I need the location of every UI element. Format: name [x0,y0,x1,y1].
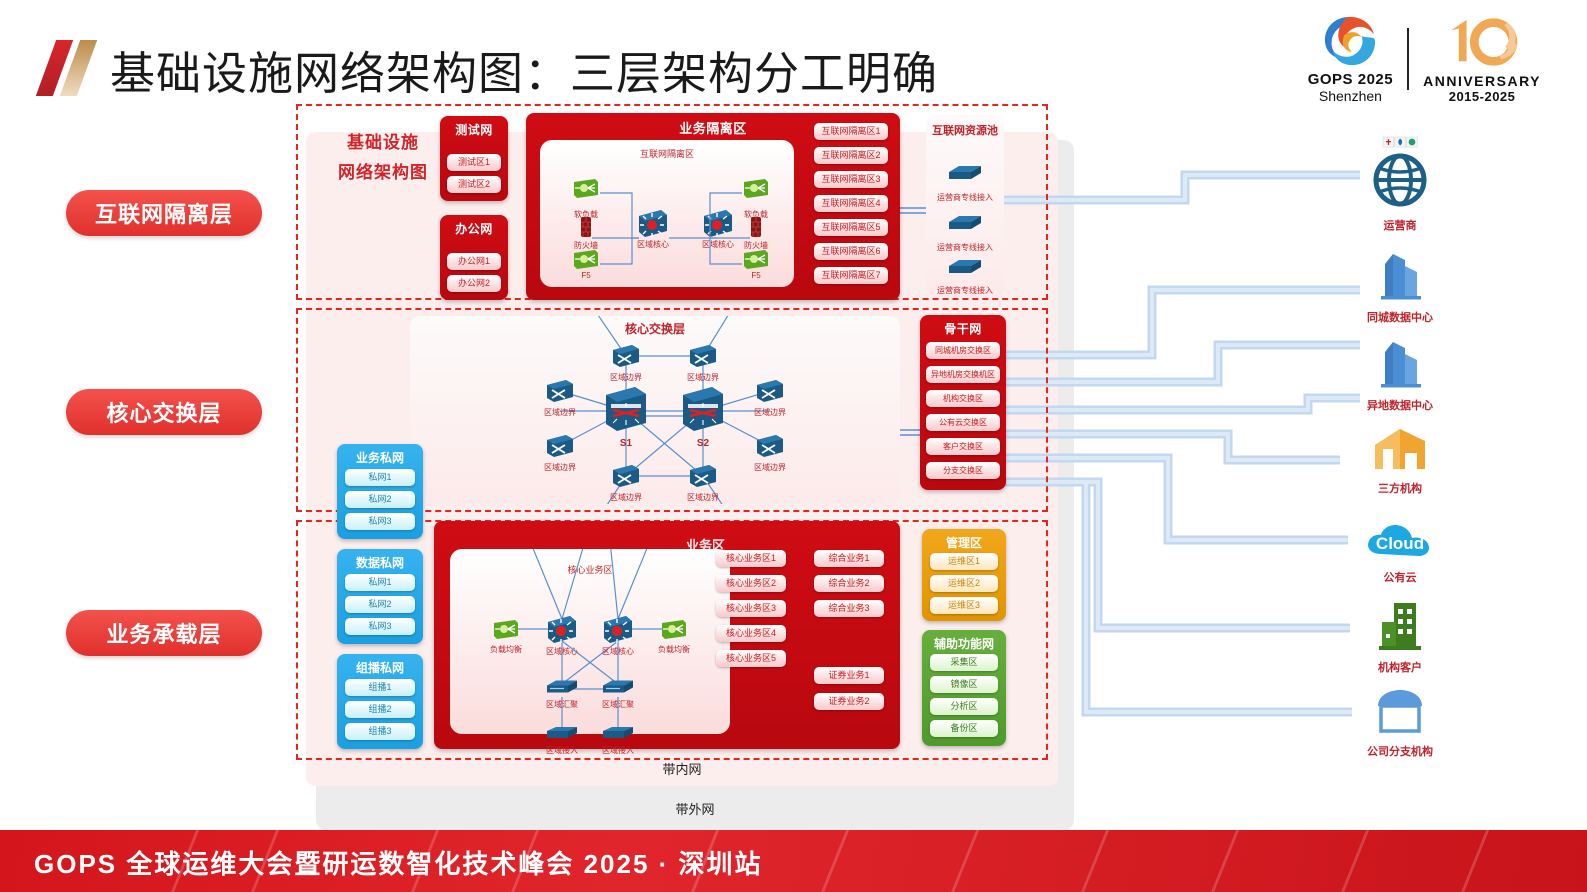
chip-backbone-5[interactable]: 客户交换区 [926,438,1000,455]
device-label: 区域边界 [687,492,719,503]
chip-ops-zone-3[interactable]: 运维区3 [930,597,998,614]
entity-company-branch[interactable]: 公司分支机构 [1345,688,1455,759]
device-label: 区域边界 [544,407,576,418]
chip-private-3[interactable]: 私网3 [345,618,415,635]
chip-general-business-3[interactable]: 综合业务3 [814,600,884,617]
device-label: 区域边界 [610,372,642,383]
diagram-title: 基础设施 网络架构图 [318,128,448,188]
chip-securities-business-2[interactable]: 证券业务2 [814,693,884,710]
zone-aggregation-switch-icon [601,679,635,696]
gops-logo: GOPS 2025 Shenzhen ANNIVERSARY 2015-2025 [1308,14,1541,104]
chip-backbone-4[interactable]: 公有云交换区 [926,414,1000,431]
isolation-inner-card: 互联网隔离区 软负载 防火墙 F5 区域核心 [540,140,794,287]
zone-boundary-switch-icon [611,343,641,369]
chip-private-3[interactable]: 私网3 [345,513,415,530]
panel-multicast-private-net[interactable]: 组播私网 组播1 组播2 组播3 [337,654,423,749]
device-label: 区域边界 [610,492,642,503]
layer-pill-business-bearing[interactable]: 业务承载层 [66,610,262,656]
chip-core-business-1[interactable]: 核心业务区1 [716,550,786,567]
footer-text: GOPS 全球运维大会暨研运数智化技术峰会 2025 · 深圳站 [34,844,763,881]
panel-business-isolation-zone[interactable]: 业务隔离区 互联网隔离区 软负载 防火墙 F5 [526,113,900,300]
zone-boundary-switch-icon [755,433,785,459]
carrier-switch-icon [947,164,983,182]
chip-multicast-1[interactable]: 组播1 [345,679,415,696]
chip-private-1[interactable]: 私网1 [345,469,415,486]
panel-title: 骨干网 [920,315,1006,337]
chip-backbone-6[interactable]: 分支交换区 [926,462,1000,479]
entity-third-party[interactable]: 三方机构 [1345,425,1455,496]
panel-business-private-net[interactable]: 业务私网 私网1 私网2 私网3 [337,444,423,539]
office-icon [1372,600,1428,652]
panel-title: 办公网 [440,215,508,237]
entity-label: 三方机构 [1345,480,1455,496]
panel-title: 辅助功能网 [922,630,1006,652]
panel-management-zone[interactable]: 管理区 运维区1 运维区2 运维区3 [922,529,1006,621]
chip-general-business-1[interactable]: 综合业务1 [814,550,884,567]
cloud-icon: Cloud [1363,520,1437,562]
logo-title: GOPS 2025 [1308,71,1393,88]
resource-label: 运营商专线接入 [937,242,993,253]
chip-test-zone-2[interactable]: 测试区2 [447,176,501,193]
panel-auxiliary-network[interactable]: 辅助功能网 采集区 镜像区 分析区 备份区 [922,630,1006,746]
panel-title: 管理区 [922,529,1006,551]
device-label: 区域边界 [754,407,786,418]
panel-office-net[interactable]: 办公网 办公网1 办公网2 [440,215,508,300]
chip-office-net-2[interactable]: 办公网2 [447,275,501,292]
chip-isolation-1[interactable]: 互联网隔离区1 [814,123,888,140]
zone-boundary-switch-icon [545,433,575,459]
device-label: 区域边界 [544,462,576,473]
device-label: 区域接入 [602,745,634,756]
device-label: 负载均衡 [490,644,522,655]
chip-backbone-3[interactable]: 机构交换区 [926,390,1000,407]
entity-carrier[interactable]: 运营商 [1345,136,1455,233]
chip-isolation-3[interactable]: 互联网隔离区3 [814,171,888,188]
zone-core-switch-icon [546,614,578,644]
logo-city: Shenzhen [1319,88,1382,104]
core-label-s1: S1 [620,438,632,449]
panel-core-switching: 核心交换层 区域边界 区域边界 区域边界 [410,316,900,504]
panel-backbone[interactable]: 骨干网 同城机房交换区 异地机房交换机区 机构交换区 公有云交换区 客户交换区 … [920,315,1006,490]
entity-institution-customer[interactable]: 机构客户 [1345,600,1455,675]
entity-local-datacenter[interactable]: 同城数据中心 [1345,252,1455,325]
layer-label: 业务承载层 [106,617,221,649]
chip-isolation-5[interactable]: 互联网隔离区5 [814,219,888,236]
layer-label: 核心交换层 [106,396,221,428]
panel-title: 数据私网 [337,549,423,571]
panel-title: 组播私网 [337,654,423,676]
business-links [450,549,730,734]
chip-core-business-2[interactable]: 核心业务区2 [716,575,786,592]
core-links [410,316,900,504]
layer-label: 互联网隔离层 [95,197,233,229]
gops-swirl-icon [1321,14,1379,68]
device-label: 区域边界 [754,462,786,473]
entity-label: 异地数据中心 [1345,397,1455,413]
panel-title: 互联网资源池 [926,122,1004,138]
chip-office-net-1[interactable]: 办公网1 [447,253,501,270]
chip-backbone-2[interactable]: 异地机房交换机区 [926,366,1000,383]
layer-pill-core-switching[interactable]: 核心交换层 [66,389,262,435]
diagram-title-line1: 基础设施 [318,128,448,158]
chip-collection-zone[interactable]: 采集区 [930,654,998,671]
chip-core-business-5[interactable]: 核心业务区5 [716,650,786,667]
carrier-switch-icon [947,214,983,232]
load-balancer-icon [493,619,519,639]
chip-isolation-4[interactable]: 互联网隔离区4 [814,195,888,212]
chip-analysis-zone[interactable]: 分析区 [930,698,998,715]
entity-label: 运营商 [1345,217,1455,233]
device-label: 负载均衡 [658,644,690,655]
core-label-s2: S2 [697,438,709,449]
chip-securities-business-1[interactable]: 证券业务1 [814,667,884,684]
chip-multicast-3[interactable]: 组播3 [345,723,415,740]
entity-public-cloud[interactable]: Cloud 公有云 [1345,520,1455,585]
device-label: 区域汇聚 [546,699,578,710]
resource-label: 运营商专线接入 [937,192,993,203]
device-label: 区域核心 [546,646,578,657]
isolation-links [540,140,794,287]
outband-label: 带外网 [316,799,1074,818]
layer-pill-internet-isolation[interactable]: 互联网隔离层 [66,190,262,236]
chip-isolation-7[interactable]: 互联网隔离区7 [814,267,888,284]
chip-core-business-3[interactable]: 核心业务区3 [716,600,786,617]
globe-icon [1363,136,1437,210]
chip-multicast-2[interactable]: 组播2 [345,701,415,718]
zone-boundary-switch-icon [545,378,575,404]
entity-label: 公有云 [1345,569,1455,585]
zone-access-switch-icon [601,725,635,741]
anniversary-label: ANNIVERSARY [1423,73,1541,89]
panel-title: 测试网 [440,116,508,138]
cloud-badge-text: Cloud [1376,534,1424,553]
zone-boundary-switch-icon [688,463,718,489]
panel-title: 业务私网 [337,444,423,466]
entity-label: 机构客户 [1345,659,1455,675]
chip-private-2[interactable]: 私网2 [345,491,415,508]
chip-backbone-1[interactable]: 同城机房交换区 [926,342,1000,359]
resource-label: 运营商专线接入 [937,285,993,296]
zone-aggregation-switch-icon [545,679,579,696]
inband-label: 带内网 [306,759,1058,778]
page-title: 基础设施网络架构图：三层架构分工明确 [110,37,938,102]
zone-access-switch-icon [545,725,579,741]
house-icon [1369,425,1431,473]
zone-boundary-switch-icon [755,378,785,404]
zone-boundary-switch-icon [688,343,718,369]
zone-boundary-switch-icon [611,463,641,489]
chip-isolation-2[interactable]: 互联网隔离区2 [814,147,888,164]
entity-label: 公司分支机构 [1345,743,1455,759]
core-switch-s1-icon [603,385,649,433]
business-inner-card: 核心业务区 负载均衡 区域核心 [450,549,730,734]
chip-backup-zone[interactable]: 备份区 [930,720,998,737]
chip-mirror-zone[interactable]: 镜像区 [930,676,998,693]
carrier-switch-icon [947,258,983,276]
zone-core-switch-icon [602,614,634,644]
building-icon [1371,340,1429,390]
shop-icon [1370,688,1430,736]
chip-test-zone-1[interactable]: 测试区1 [447,154,501,171]
device-label: 区域边界 [687,372,719,383]
anniversary-years: 2015-2025 [1449,89,1516,104]
chip-isolation-6[interactable]: 互联网隔离区6 [814,243,888,260]
diagram-title-line2: 网络架构图 [318,158,448,188]
core-switch-s2-icon [680,385,726,433]
entity-label: 同城数据中心 [1345,309,1455,325]
title-slash-icon [42,40,102,96]
panel-business-zone[interactable]: 业务区 核心业务区 负载均衡 [434,521,900,749]
chip-general-business-2[interactable]: 综合业务2 [814,575,884,592]
panel-internet-resource-pool[interactable]: 互联网资源池 运营商专线接入 运营商专线接入 运营商专线接入 [926,115,1004,297]
page-footer: GOPS 全球运维大会暨研运数智化技术峰会 2025 · 深圳站 [0,830,1587,892]
panel-data-private-net[interactable]: 数据私网 私网1 私网2 私网3 [337,549,423,644]
panel-test-net[interactable]: 测试网 测试区1 测试区2 [440,116,508,201]
chip-ops-zone-1[interactable]: 运维区1 [930,553,998,570]
chip-core-business-4[interactable]: 核心业务区4 [716,625,786,642]
chip-ops-zone-2[interactable]: 运维区2 [930,575,998,592]
device-label: 区域核心 [602,646,634,657]
anniversary-10-icon [1442,15,1522,69]
chip-private-2[interactable]: 私网2 [345,596,415,613]
entity-remote-datacenter[interactable]: 异地数据中心 [1345,340,1455,413]
device-label: 区域汇聚 [602,699,634,710]
building-icon [1371,252,1429,302]
chip-private-1[interactable]: 私网1 [345,574,415,591]
device-label: 区域接入 [546,745,578,756]
logo-divider [1407,28,1409,90]
load-balancer-icon [661,619,687,639]
